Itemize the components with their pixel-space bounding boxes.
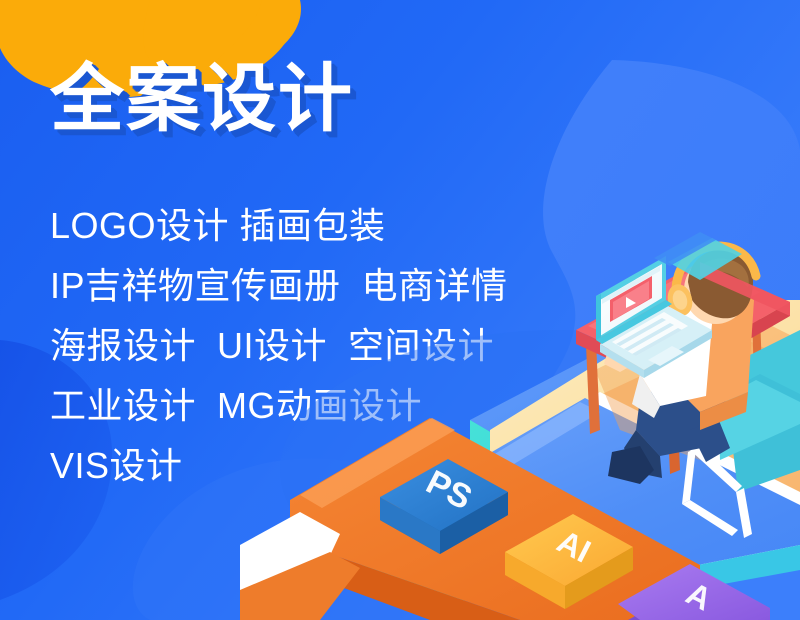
poster-canvas: 全案设计 LOGO设计 插画包装 IP吉祥物宣传画册 电商详情 海报设计 UI设…: [0, 0, 800, 620]
isometric-illustration: PS AI A: [0, 0, 800, 620]
